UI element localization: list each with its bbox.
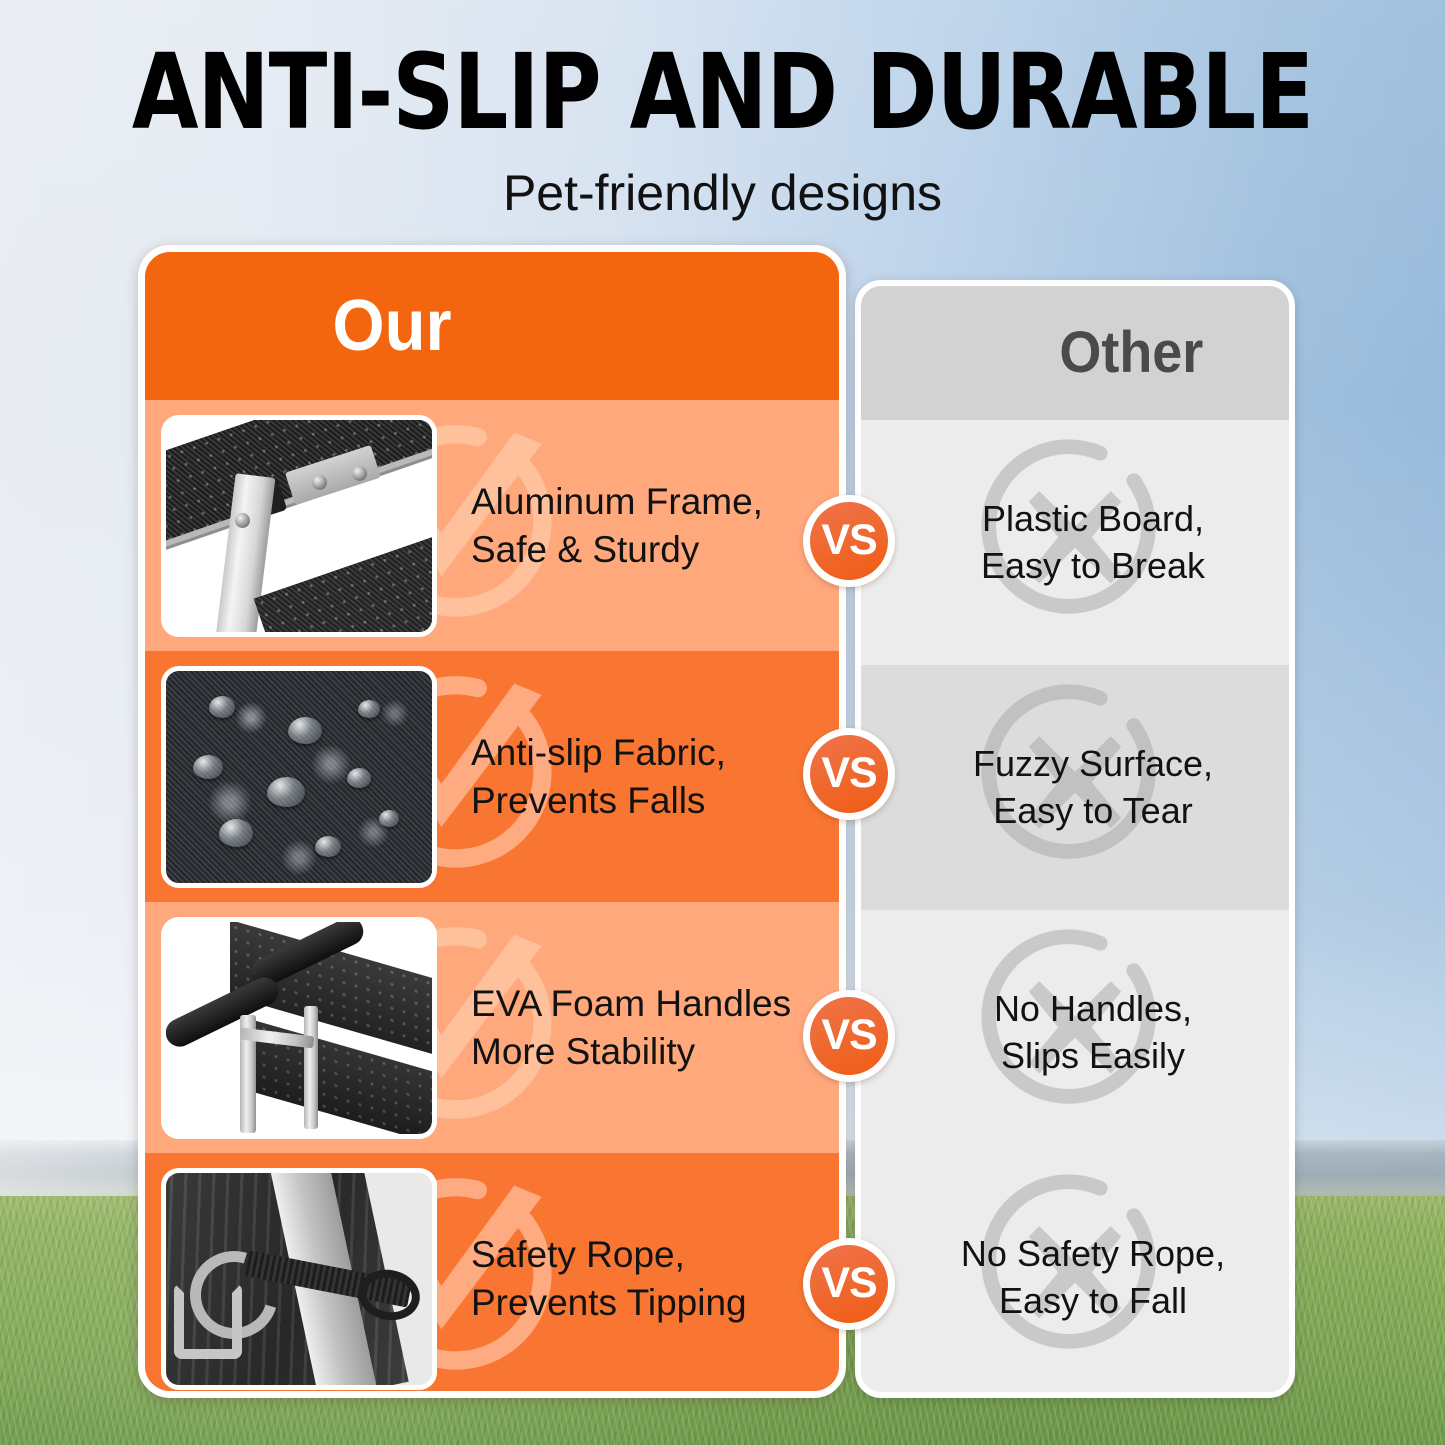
our-row-text: Anti-slip Fabric, Prevents Falls <box>471 729 726 824</box>
vs-badge: VS <box>803 728 895 820</box>
vs-badge: VS <box>803 990 895 1082</box>
other-row-text: Fuzzy Surface, Easy to Tear <box>929 741 1221 835</box>
our-row-line1: Anti-slip Fabric, <box>471 729 726 776</box>
page-title: ANTI-SLIP AND DURABLE <box>58 40 1387 144</box>
our-row-line2: Prevents Tipping <box>471 1279 747 1326</box>
other-row: Fuzzy Surface, Easy to Tear <box>861 665 1289 910</box>
our-row: Aluminum Frame, Safe & Sturdy <box>145 400 839 651</box>
our-row-thumbnail <box>161 666 437 888</box>
other-row-text: No Safety Rope, Easy to Fall <box>917 1231 1233 1325</box>
other-row-text: No Handles, Slips Easily <box>950 986 1200 1080</box>
vs-badge: VS <box>803 1238 895 1330</box>
other-row-line2: Easy to Break <box>981 543 1205 590</box>
vs-label: VS <box>821 752 876 795</box>
vs-badge: VS <box>803 495 895 587</box>
page-subtitle: Pet-friendly designs <box>0 168 1445 218</box>
other-row-line1: Fuzzy Surface, <box>973 741 1213 788</box>
other-row-line2: Slips Easily <box>994 1033 1192 1080</box>
vs-label: VS <box>821 1262 876 1305</box>
our-row-line1: Safety Rope, <box>471 1231 747 1278</box>
infographic-canvas: ANTI-SLIP AND DURABLE Pet-friendly desig… <box>0 0 1445 1445</box>
our-row-thumbnail <box>161 917 437 1139</box>
other-column-panel: Other Plastic Board, Easy to Break Fuzzy… <box>855 280 1295 1398</box>
our-row-thumbnail <box>161 415 437 637</box>
our-row-line1: Aluminum Frame, <box>471 478 763 525</box>
other-row-line1: Plastic Board, <box>981 496 1205 543</box>
vs-label: VS <box>821 519 876 562</box>
our-row-thumbnail <box>161 1168 437 1390</box>
other-column-header: Other <box>861 286 1289 420</box>
other-row: No Handles, Slips Easily <box>861 910 1289 1155</box>
our-row-text: Safety Rope, Prevents Tipping <box>471 1231 747 1326</box>
our-column-panel: Our Aluminum Fram <box>138 245 846 1398</box>
other-row-line2: Easy to Tear <box>973 788 1213 835</box>
other-row-line1: No Handles, <box>994 986 1192 1033</box>
our-row: Safety Rope, Prevents Tipping <box>145 1153 839 1398</box>
our-row: Anti-slip Fabric, Prevents Falls <box>145 651 839 902</box>
our-column-label: Our <box>332 290 451 362</box>
anti-slip-fabric-waterdrops-photo <box>166 671 432 883</box>
our-row-text: Aluminum Frame, Safe & Sturdy <box>471 478 763 573</box>
eva-foam-handles-photo <box>166 922 432 1134</box>
our-row: EVA Foam Handles More Stability <box>145 902 839 1153</box>
heading-block: ANTI-SLIP AND DURABLE Pet-friendly desig… <box>0 40 1445 218</box>
vs-label: VS <box>821 1014 876 1057</box>
other-row: Plastic Board, Easy to Break <box>861 420 1289 665</box>
our-row-line2: More Stability <box>471 1028 791 1075</box>
safety-rope-carabiner-photo <box>166 1173 432 1385</box>
other-row-text: Plastic Board, Easy to Break <box>937 496 1213 590</box>
our-column-header: Our <box>145 252 839 400</box>
our-row-line1: EVA Foam Handles <box>471 980 791 1027</box>
other-column-label: Other <box>1059 324 1203 382</box>
other-row-line2: Easy to Fall <box>961 1278 1225 1325</box>
other-row: No Safety Rope, Easy to Fall <box>861 1155 1289 1398</box>
aluminum-frame-corner-photo <box>166 420 432 632</box>
our-row-text: EVA Foam Handles More Stability <box>471 980 791 1075</box>
other-row-line1: No Safety Rope, <box>961 1231 1225 1278</box>
our-row-line2: Prevents Falls <box>471 777 726 824</box>
our-row-line2: Safe & Sturdy <box>471 526 763 573</box>
